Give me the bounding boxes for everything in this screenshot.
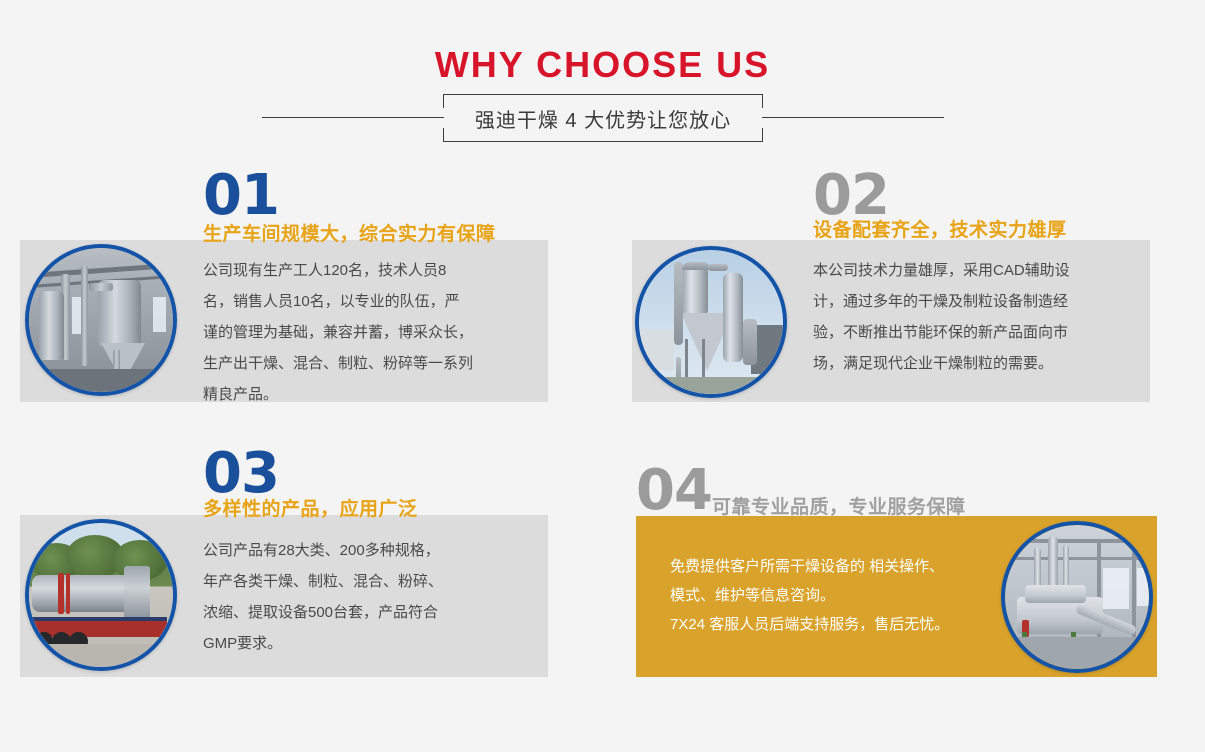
card-body-03: 公司产品有28大类、200多种规格， 年产各类干燥、制粒、混合、粉碎、 浓缩、提… [203,535,533,659]
card-body-02: 本公司技术力量雄厚，采用CAD辅助设 计，通过多年的干燥及制粒设备制造经 验，不… [813,255,1158,379]
why-choose-us-section: WHY CHOOSE US 强迪干燥 4 大优势让您放心 01 生产车间规模大，… [0,0,1205,752]
header-rule-right [762,117,944,118]
card-heading-01: 生产车间规模大，综合实力有保障 [203,219,496,246]
fluid-bed-dryer-photo [1001,521,1153,673]
rotary-dryer-truck-photo [25,519,177,671]
card-number-04: 04 [636,465,712,517]
page-subtitle: 强迪干燥 4 大优势让您放心 [443,94,763,142]
card-number-03: 03 [203,448,279,500]
header-rule-left [262,117,444,118]
subtitle-frame: 强迪干燥 4 大优势让您放心 [443,94,763,142]
card-heading-04: 可靠专业品质，专业服务保障 [712,492,966,519]
spray-dryer-workshop-photo [25,244,177,396]
card-heading-02: 设备配套齐全，技术实力雄厚 [813,215,1067,242]
card-body-04: 免费提供客户所需干燥设备的 相关操作、 模式、维护等信息咨询。 7X24 客服人… [670,552,1000,639]
page-title: WHY CHOOSE US [0,44,1205,86]
card-heading-03: 多样性的产品，应用广泛 [203,494,418,521]
card-body-01: 公司现有生产工人120名，技术人员8 名，销售人员10名，以专业的队伍，严 谨的… [203,255,533,410]
card-number-01: 01 [203,170,279,222]
outdoor-spray-dryer-photo [635,246,787,398]
section-header: WHY CHOOSE US 强迪干燥 4 大优势让您放心 [0,0,1205,160]
